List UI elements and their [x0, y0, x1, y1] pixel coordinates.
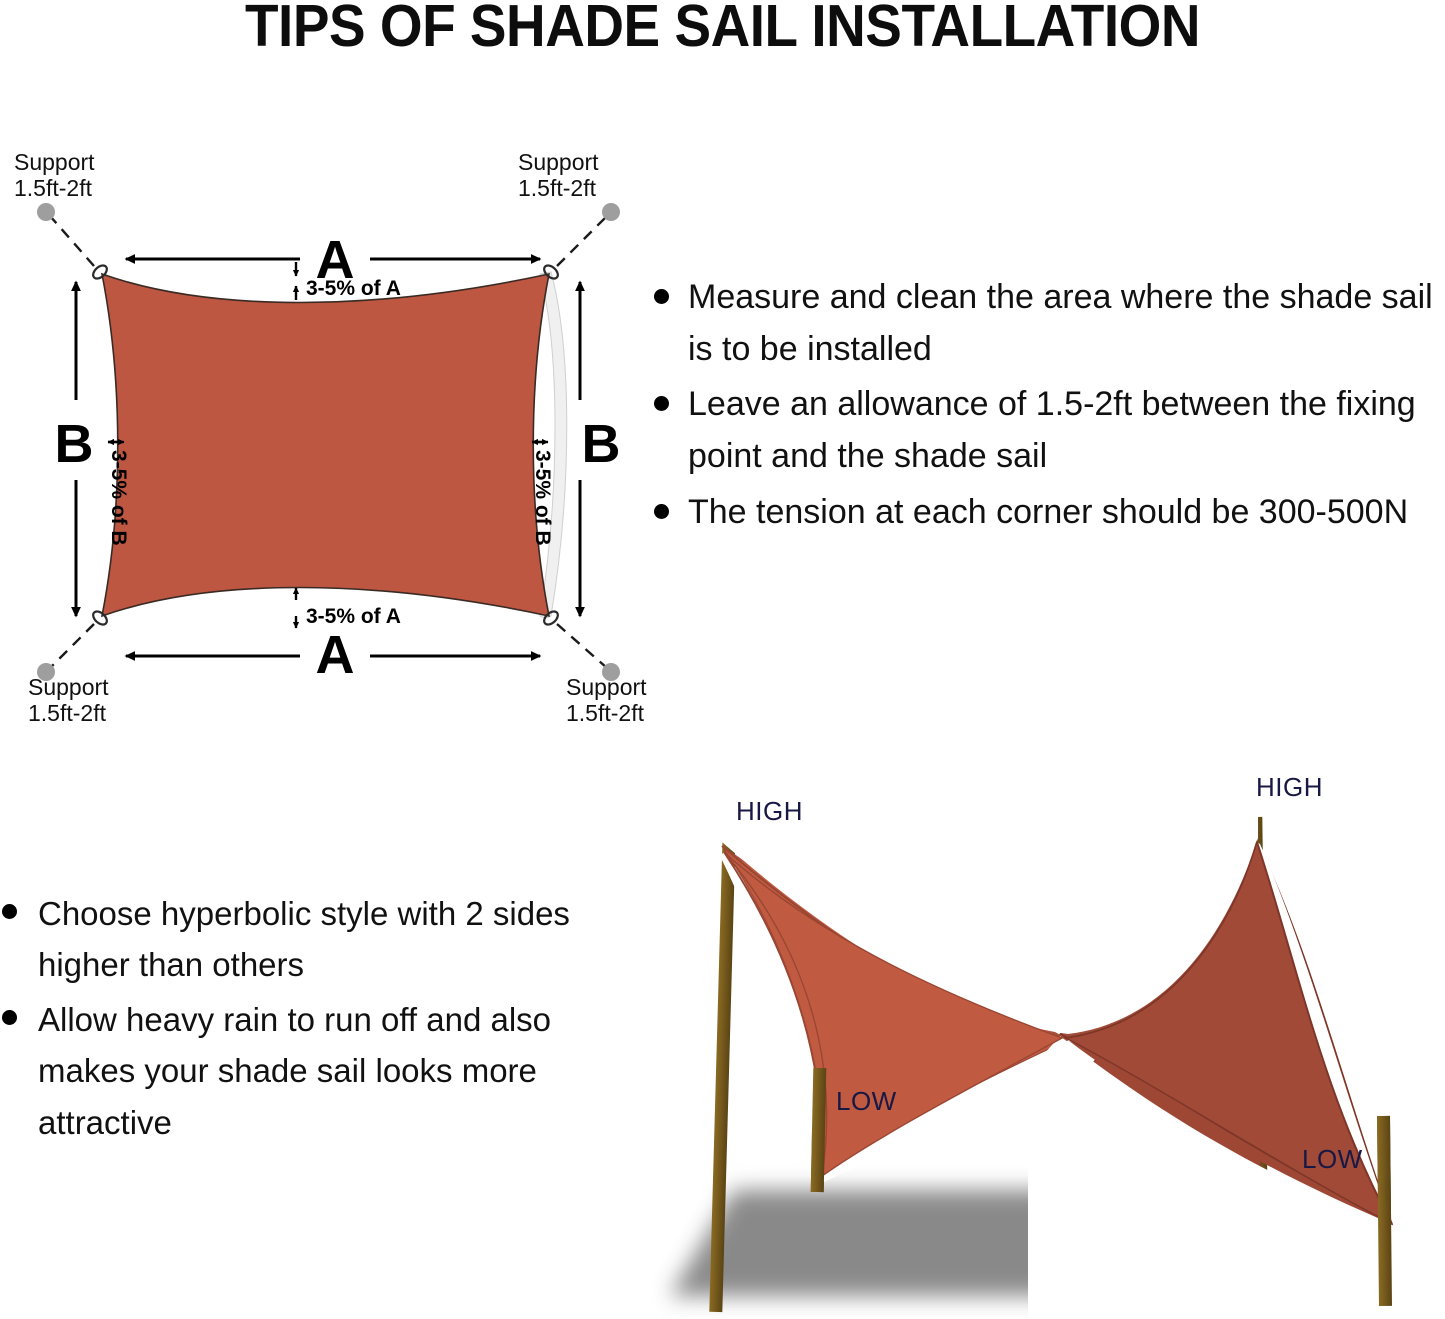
- label-low-left: LOW: [836, 1086, 897, 1117]
- list-item: Choose hyperbolic style with 2 sides hig…: [0, 888, 625, 990]
- curve-b-left-label: 3-5% of B: [107, 450, 130, 546]
- hyperbolic-sail-diagram: HIGH HIGH LOW LOW: [648, 772, 1445, 1319]
- dimension-b-right-label: B: [582, 414, 621, 474]
- rectangular-sail-diagram: A A B B 3-5% of A 3-5% of A 3-5% of B 3-…: [0, 150, 660, 740]
- support-label-bottom-right-line2: 1.5ft-2ft: [566, 700, 645, 726]
- label-high-left: HIGH: [736, 796, 803, 827]
- tips-list-left: Choose hyperbolic style with 2 sides hig…: [0, 888, 625, 1152]
- label-low-right: LOW: [1302, 1144, 1363, 1175]
- bullet-icon: [654, 289, 669, 304]
- hyperbolic-sail-svg: [648, 772, 1445, 1319]
- bullet-icon: [2, 904, 17, 919]
- support-dot-top-right: [602, 203, 620, 221]
- support-label-bottom-right-line1: Support: [566, 674, 647, 700]
- tip-text: The tension at each corner should be 300…: [688, 493, 1408, 531]
- tips-left-ul: Choose hyperbolic style with 2 sides hig…: [0, 888, 625, 1148]
- label-high-right: HIGH: [1256, 772, 1323, 803]
- tip-text: Choose hyperbolic style with 2 sides hig…: [38, 895, 570, 983]
- support-label-top-right-line1: Support: [518, 150, 599, 175]
- tip-text: Allow heavy rain to run off and also mak…: [38, 1001, 551, 1140]
- bullet-icon: [654, 396, 669, 411]
- dimension-b-left-label: B: [55, 414, 94, 474]
- support-label-top-left-line2: 1.5ft-2ft: [14, 175, 93, 201]
- rectangular-sail-svg: A A B B 3-5% of A 3-5% of A 3-5% of B 3-…: [0, 150, 660, 740]
- list-item: The tension at each corner should be 300…: [648, 487, 1445, 539]
- support-label-bottom-left-line2: 1.5ft-2ft: [28, 700, 107, 726]
- support-dot-top-left: [37, 203, 55, 221]
- curve-a-top-label: 3-5% of A: [306, 277, 401, 300]
- post-low-left-front: [811, 1068, 827, 1192]
- page-title: TIPS OF SHADE SAIL INSTALLATION: [51, 0, 1395, 58]
- tips-right-ul: Measure and clean the area where the sha…: [648, 272, 1445, 538]
- list-item: Measure and clean the area where the sha…: [648, 272, 1445, 375]
- shade-sail-shape: [102, 274, 549, 616]
- curve-b-right-label: 3-5% of B: [531, 450, 554, 546]
- tip-text: Leave an allowance of 1.5-2ft between th…: [688, 385, 1416, 475]
- support-label-bottom-left-line1: Support: [28, 674, 109, 700]
- list-item: Leave an allowance of 1.5-2ft between th…: [648, 379, 1445, 482]
- tip-text: Measure and clean the area where the sha…: [688, 278, 1433, 368]
- sail-edge-band: [540, 272, 567, 618]
- support-label-top-left-line1: Support: [14, 150, 95, 175]
- curve-a-bottom-label: 3-5% of A: [306, 605, 401, 628]
- tips-list-right: Measure and clean the area where the sha…: [648, 272, 1445, 542]
- dimension-a-bottom-label: A: [316, 625, 355, 685]
- bullet-icon: [2, 1010, 17, 1025]
- bullet-icon: [654, 504, 669, 519]
- list-item: Allow heavy rain to run off and also mak…: [0, 994, 625, 1147]
- post-low-right-front: [1377, 1116, 1392, 1306]
- support-label-top-right-line2: 1.5ft-2ft: [518, 175, 597, 201]
